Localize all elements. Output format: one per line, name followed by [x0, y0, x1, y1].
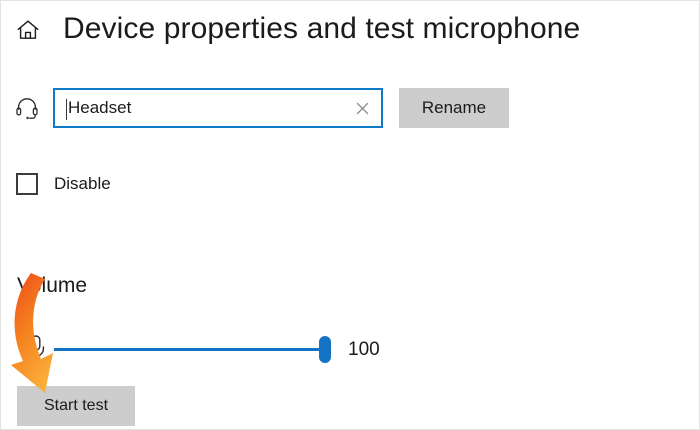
home-icon[interactable] [1, 15, 41, 43]
rename-button[interactable]: Rename [399, 88, 509, 128]
close-icon[interactable] [351, 97, 373, 119]
headset-icon [1, 95, 40, 121]
start-test-button[interactable]: Start test [17, 386, 135, 426]
volume-slider-track[interactable] [54, 348, 326, 351]
disable-label: Disable [54, 174, 111, 194]
volume-value: 100 [348, 338, 380, 362]
disable-row[interactable]: Disable [16, 173, 111, 195]
text-caret [66, 99, 67, 120]
device-name-value: Headset [68, 98, 131, 118]
volume-slider-thumb[interactable] [319, 336, 331, 363]
device-name-input[interactable]: Headset [53, 88, 383, 128]
disable-checkbox[interactable] [16, 173, 38, 195]
page-header: Device properties and test microphone [1, 1, 700, 57]
volume-heading: Volume [17, 273, 87, 299]
page-title: Device properties and test microphone [63, 12, 580, 46]
device-name-row: Headset Rename [1, 87, 700, 129]
volume-slider-row: 100 [1, 333, 700, 367]
device-properties-window: Device properties and test microphone He… [0, 0, 700, 430]
